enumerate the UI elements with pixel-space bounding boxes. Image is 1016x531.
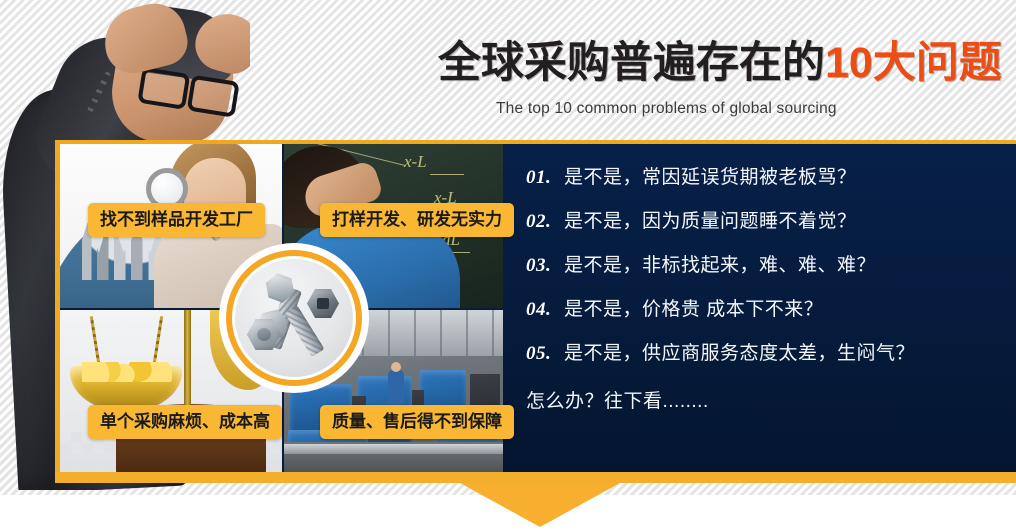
list-item-number: 05. — [526, 343, 564, 365]
page-subtitle: The top 10 common problems of global sou… — [496, 100, 837, 118]
bolts-circle-inset — [219, 243, 369, 393]
problems-list: 01. 是不是，常因延误货期被老板骂？ 02. 是不是，因为质量问题睡不着觉？ … — [526, 162, 1004, 413]
gold-nuggets-shape — [82, 362, 172, 382]
list-item-text: 是不是，非标找起来，难、难、难？ — [564, 250, 876, 277]
list-item-number: 03. — [526, 255, 564, 277]
list-item-number: 01. — [526, 167, 564, 189]
tag-no-rd-capability: 打样开发、研发无实力 — [320, 203, 514, 237]
page-title-main: 全球采购普遍存在的 — [438, 39, 825, 87]
bolts-photo — [235, 259, 353, 377]
problems-footer-text: 怎么办？往下看........ — [526, 386, 1004, 413]
list-item-text: 是不是，供应商服务态度太差，生闷气？ — [564, 338, 915, 365]
list-item-text: 是不是，因为质量问题睡不着觉？ — [564, 206, 857, 233]
page-title: 全球采购普遍存在的10大问题 — [438, 42, 1002, 85]
hex-nut-icon — [307, 289, 339, 318]
tag-no-quality-aftersales: 质量、售后得不到保障 — [320, 405, 514, 439]
factory-worker-shape — [388, 370, 404, 404]
tag-single-purchase-costly: 单个采购麻烦、成本高 — [88, 405, 282, 439]
list-item-text: 是不是，常因延误货期被老板骂？ — [564, 162, 857, 189]
tag-no-sample-factory: 找不到样品开发工厂 — [88, 203, 265, 237]
factory-pipe-shape — [284, 444, 503, 454]
gold-divider-bottom — [55, 472, 1016, 483]
banner-root: 全球采购普遍存在的10大问题 The top 10 common problem… — [0, 0, 1016, 531]
factory-worker-head — [391, 362, 401, 372]
scroll-down-arrow-icon — [460, 483, 620, 527]
list-item: 01. 是不是，常因延误货期被老板骂？ — [526, 162, 1004, 206]
list-item-number: 02. — [526, 211, 564, 233]
list-item-text: 是不是，价格贵 成本下不来？ — [564, 294, 823, 321]
page-title-accent: 10大问题 — [825, 39, 1002, 87]
list-item: 05. 是不是，供应商服务态度太差，生闷气？ — [526, 338, 1004, 382]
list-item: 02. 是不是，因为质量问题睡不着觉？ — [526, 206, 1004, 250]
list-item-number: 04. — [526, 299, 564, 321]
problems-panel: 01. 是不是，常因延误货期被老板骂？ 02. 是不是，因为质量问题睡不着觉？ … — [503, 144, 1016, 472]
list-item: 04. 是不是，价格贵 成本下不来？ — [526, 294, 1004, 338]
chalk-fraction-line — [430, 174, 464, 175]
headline-block: 全球采购普遍存在的10大问题 The top 10 common problem… — [430, 38, 1016, 138]
list-item: 03. 是不是，非标找起来，难、难、难？ — [526, 250, 1004, 294]
